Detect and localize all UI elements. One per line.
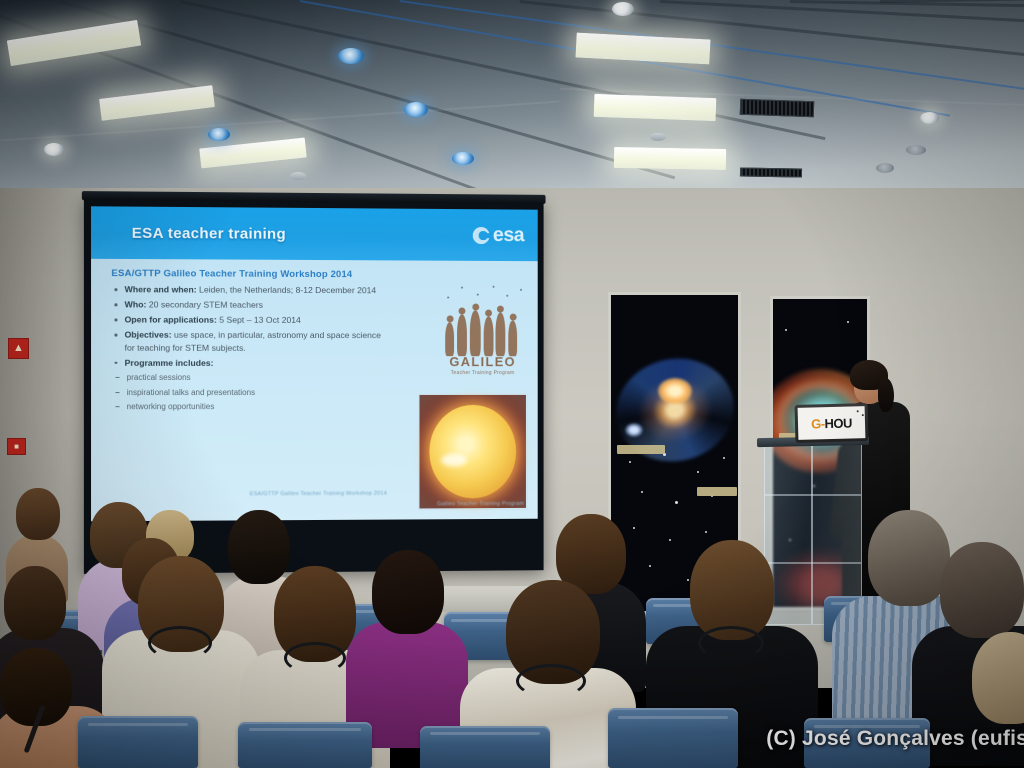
galileo-logo-tagline: Teacher Training Program <box>437 370 528 376</box>
person-head <box>16 488 60 540</box>
bullet-label: Objectives: <box>125 330 172 340</box>
slide-sub-bullet: networking opportunities <box>111 401 372 413</box>
audience-member <box>6 488 68 578</box>
lanyard <box>516 664 586 698</box>
fire-alarm-sign-upper: ▲ <box>8 338 29 359</box>
slide-bullet: Who: 20 secondary STEM teachers <box>111 298 384 312</box>
chair[interactable] <box>78 716 198 768</box>
person-head <box>972 632 1024 724</box>
slide-sub-bullet: practical sessions <box>111 372 372 384</box>
fire-alarm-call-point[interactable]: ■ <box>7 438 26 455</box>
bullet-text: 20 secondary STEM teachers <box>146 299 263 309</box>
slide-bullet-list: Where and when: Leiden, the Netherlands;… <box>111 283 384 370</box>
laptop: G-HOU <box>795 403 869 443</box>
ceiling-vent <box>740 99 815 118</box>
ghou-logo-part2: HOU <box>824 415 852 431</box>
lanyard <box>698 626 764 660</box>
photo-scene: ▲ ■ ESA teacher training esa ESA/GTTP Ga… <box>0 0 1024 768</box>
laptop-lid: G-HOU <box>798 406 866 440</box>
lanyard <box>148 626 212 660</box>
bullet-label: Who: <box>125 299 147 309</box>
chair[interactable] <box>608 708 738 768</box>
ceiling-downlight-blue <box>208 128 230 141</box>
person-head <box>940 542 1024 638</box>
slide-bullet: Where and when: Leiden, the Netherlands;… <box>111 283 384 297</box>
ceiling-downlight <box>44 143 64 156</box>
slide-header-title: ESA teacher training <box>132 224 286 242</box>
ceiling <box>0 0 1024 205</box>
person-head <box>4 566 66 640</box>
person-head <box>690 540 774 640</box>
galileo-logo: GALILEO Teacher Training Program <box>437 283 528 386</box>
ceiling-downlight <box>920 112 939 124</box>
ceiling-panel-light <box>594 94 717 121</box>
ceiling-downlight-blue <box>452 152 474 165</box>
chair[interactable] <box>238 722 372 768</box>
speaker-hair-side <box>878 378 894 412</box>
audience-member <box>352 550 462 720</box>
slide-sub-bullet-list: practical sessions inspirational talks a… <box>111 372 372 413</box>
galileo-people-icon <box>443 304 522 356</box>
bullet-label: Open for applications: <box>125 315 217 325</box>
slide-subtitle: ESA/GTTP Galileo Teacher Training Worksh… <box>111 268 537 281</box>
person-head <box>372 550 444 634</box>
slide-bullet: Objectives: use space, in particular, as… <box>111 329 384 355</box>
copyright-watermark: (C) José Gonçalves (eufis <box>766 727 1024 751</box>
esa-logo-text: esa <box>493 224 524 247</box>
bullet-text: 5 Sept – 13 Oct 2014 <box>217 315 301 325</box>
slide-bullet: Open for applications: 5 Sept – 13 Oct 2… <box>111 314 384 327</box>
bullet-label: Where and when: <box>125 284 197 294</box>
ceiling-downlight-blue <box>404 102 428 117</box>
esa-logo: esa <box>473 224 524 247</box>
ceiling-vent <box>740 167 802 177</box>
ceiling-downlight-blue <box>338 48 364 64</box>
audience <box>0 470 1024 768</box>
sun-flare <box>441 454 467 467</box>
slide-sub-bullet: inspirational talks and presentations <box>111 387 372 399</box>
smoke-detector <box>650 133 666 141</box>
ceiling-downlight-off <box>876 163 894 173</box>
esa-mark-icon <box>473 227 490 244</box>
ceiling-downlight-off <box>906 145 926 155</box>
bullet-text: Leiden, the Netherlands; 8-12 December 2… <box>197 284 376 295</box>
slide-header: ESA teacher training esa <box>91 206 538 261</box>
galileo-logo-name: GALILEO <box>437 354 528 369</box>
ceiling-panel-light <box>614 147 726 170</box>
bullet-label: Programme includes: <box>125 358 214 368</box>
ghou-logo-part1: G- <box>811 416 825 431</box>
ceiling-downlight <box>612 2 634 16</box>
fire-alarm-button-glyph: ■ <box>14 443 19 451</box>
poster-caption-patch <box>617 445 665 454</box>
chair[interactable] <box>420 726 550 768</box>
smoke-detector <box>290 172 306 180</box>
ghou-logo: G-HOU <box>811 415 852 431</box>
lanyard <box>284 642 346 674</box>
fire-alarm-glyph: ▲ <box>13 343 24 354</box>
slide-bullet: Programme includes: <box>111 357 384 370</box>
